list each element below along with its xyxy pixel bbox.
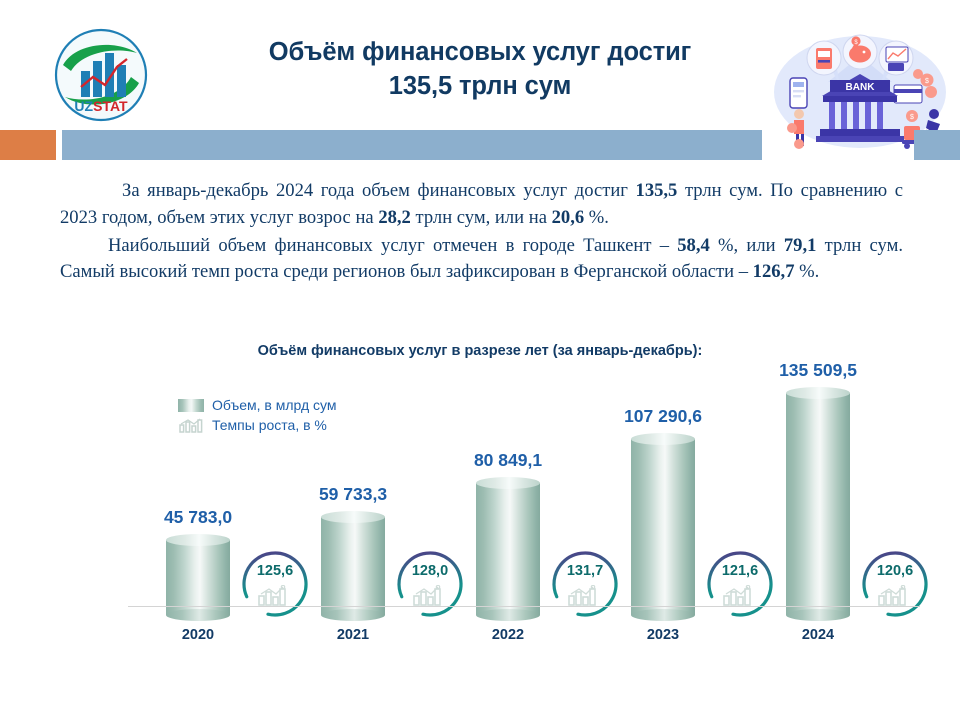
page-title-line-2: 135,5 трлн сум: [180, 70, 780, 104]
uzstat-logo: UZSTAT: [53, 27, 149, 123]
p1-mid-2: трлн сум, или на: [411, 207, 552, 228]
bar-cylinder: [786, 393, 850, 615]
bar-top-cap: [166, 534, 230, 546]
legend-item-volume: Объем, в млрд сум: [178, 395, 337, 415]
x-axis-label-2021: 2021: [337, 627, 369, 643]
bar-top-cap: [321, 511, 385, 523]
bar-bottom-cap: [631, 609, 695, 621]
bar-chart-icon: [178, 418, 204, 433]
growth-rate-value: 128,0: [391, 563, 469, 579]
bar-chart-icon: [257, 585, 289, 607]
bar-value-label: 80 849,1: [474, 450, 542, 471]
p2-suffix: %.: [795, 261, 820, 282]
legend-label-growth: Темпы роста, в %: [212, 415, 327, 435]
x-axis-label-2023: 2023: [647, 627, 679, 643]
p1-suffix: %.: [584, 207, 609, 228]
legend-item-growth: Темпы роста, в %: [178, 415, 337, 435]
svg-text:$: $: [910, 114, 914, 121]
summary-paragraph-2: Наибольший объем финансовых услуг отмече…: [60, 233, 903, 287]
page-title: Объём финансовых услуг достиг 135,5 трлн…: [180, 36, 780, 104]
x-axis-label-2024: 2024: [802, 627, 834, 643]
p2-value-3: 126,7: [753, 261, 795, 282]
growth-rate-ring-2023: 121,6: [701, 545, 779, 623]
volume-swatch-icon: [178, 399, 204, 412]
p1-prefix: За январь-декабрь 2024 года объем финанс…: [122, 180, 636, 201]
logo-text: UZSTAT: [74, 98, 128, 114]
bar-chart-icon: [412, 585, 444, 607]
bar-chart-icon: [567, 585, 599, 607]
bar-value-label: 135 509,5: [779, 360, 857, 381]
bar-cylinder: [631, 439, 695, 615]
growth-rate-value: 125,6: [236, 563, 314, 579]
summary-text: За январь-декабрь 2024 года объем финанс…: [60, 178, 903, 287]
summary-paragraph-1: За январь-декабрь 2024 года объем финанс…: [60, 178, 903, 232]
bar-chart-icon: [722, 585, 754, 607]
header-stripe-blue: [62, 130, 762, 160]
bar-chart-icon: [877, 585, 909, 607]
header-stripe-blue-right: [914, 130, 960, 160]
p2-value-2: 79,1: [784, 235, 817, 256]
bar-group-2023: 107 290,62023: [631, 379, 695, 615]
growth-rate-value: 120,6: [856, 563, 934, 579]
bar-group-2024: 135 509,52024: [786, 379, 850, 615]
chart-title: Объём финансовых услуг в разрезе лет (за…: [0, 343, 960, 359]
bar-bottom-cap: [476, 609, 540, 621]
growth-rate-value: 121,6: [701, 563, 779, 579]
bar-value-label: 59 733,3: [319, 484, 387, 505]
page-header: UZSTAT Объём финансовых услуг достиг 135…: [0, 0, 960, 170]
p1-value-3: 20,6: [552, 207, 585, 228]
bar-top-cap: [476, 477, 540, 489]
growth-rate-ring-2020: 125,6: [236, 545, 314, 623]
p2-prefix: Наибольший объем финансовых услуг отмече…: [108, 235, 677, 256]
bank-label: BANK: [846, 82, 876, 93]
bar-top-cap: [786, 387, 850, 399]
bar-top-cap: [631, 433, 695, 445]
header-stripe-orange: [0, 130, 56, 160]
bar-cylinder: [321, 517, 385, 615]
page-title-line-1: Объём финансовых услуг достиг: [180, 36, 780, 70]
p2-value-1: 58,4: [677, 235, 710, 256]
growth-rate-ring-2021: 128,0: [391, 545, 469, 623]
bar-bottom-cap: [321, 609, 385, 621]
bar-cylinder: [476, 483, 540, 615]
x-axis-label-2022: 2022: [492, 627, 524, 643]
bar-bottom-cap: [786, 609, 850, 621]
growth-rate-value: 131,7: [546, 563, 624, 579]
chart-legend: Объем, в млрд сум Темпы роста, в %: [178, 395, 337, 435]
p1-value-1: 135,5: [636, 180, 678, 201]
bar-value-label: 107 290,6: [624, 406, 702, 427]
p1-value-2: 28,2: [378, 207, 411, 228]
growth-rate-ring-2024: 120,6: [856, 545, 934, 623]
p2-mid-1: %, или: [710, 235, 784, 256]
growth-rate-ring-2022: 131,7: [546, 545, 624, 623]
x-axis-label-2020: 2020: [182, 627, 214, 643]
bar-cylinder: [166, 540, 230, 615]
bar-group-2022: 80 849,12022: [476, 379, 540, 615]
svg-text:$: $: [925, 78, 929, 85]
legend-label-volume: Объем, в млрд сум: [212, 395, 337, 415]
chart-baseline: [128, 606, 920, 607]
bar-bottom-cap: [166, 609, 230, 621]
bar-value-label: 45 783,0: [164, 507, 232, 528]
